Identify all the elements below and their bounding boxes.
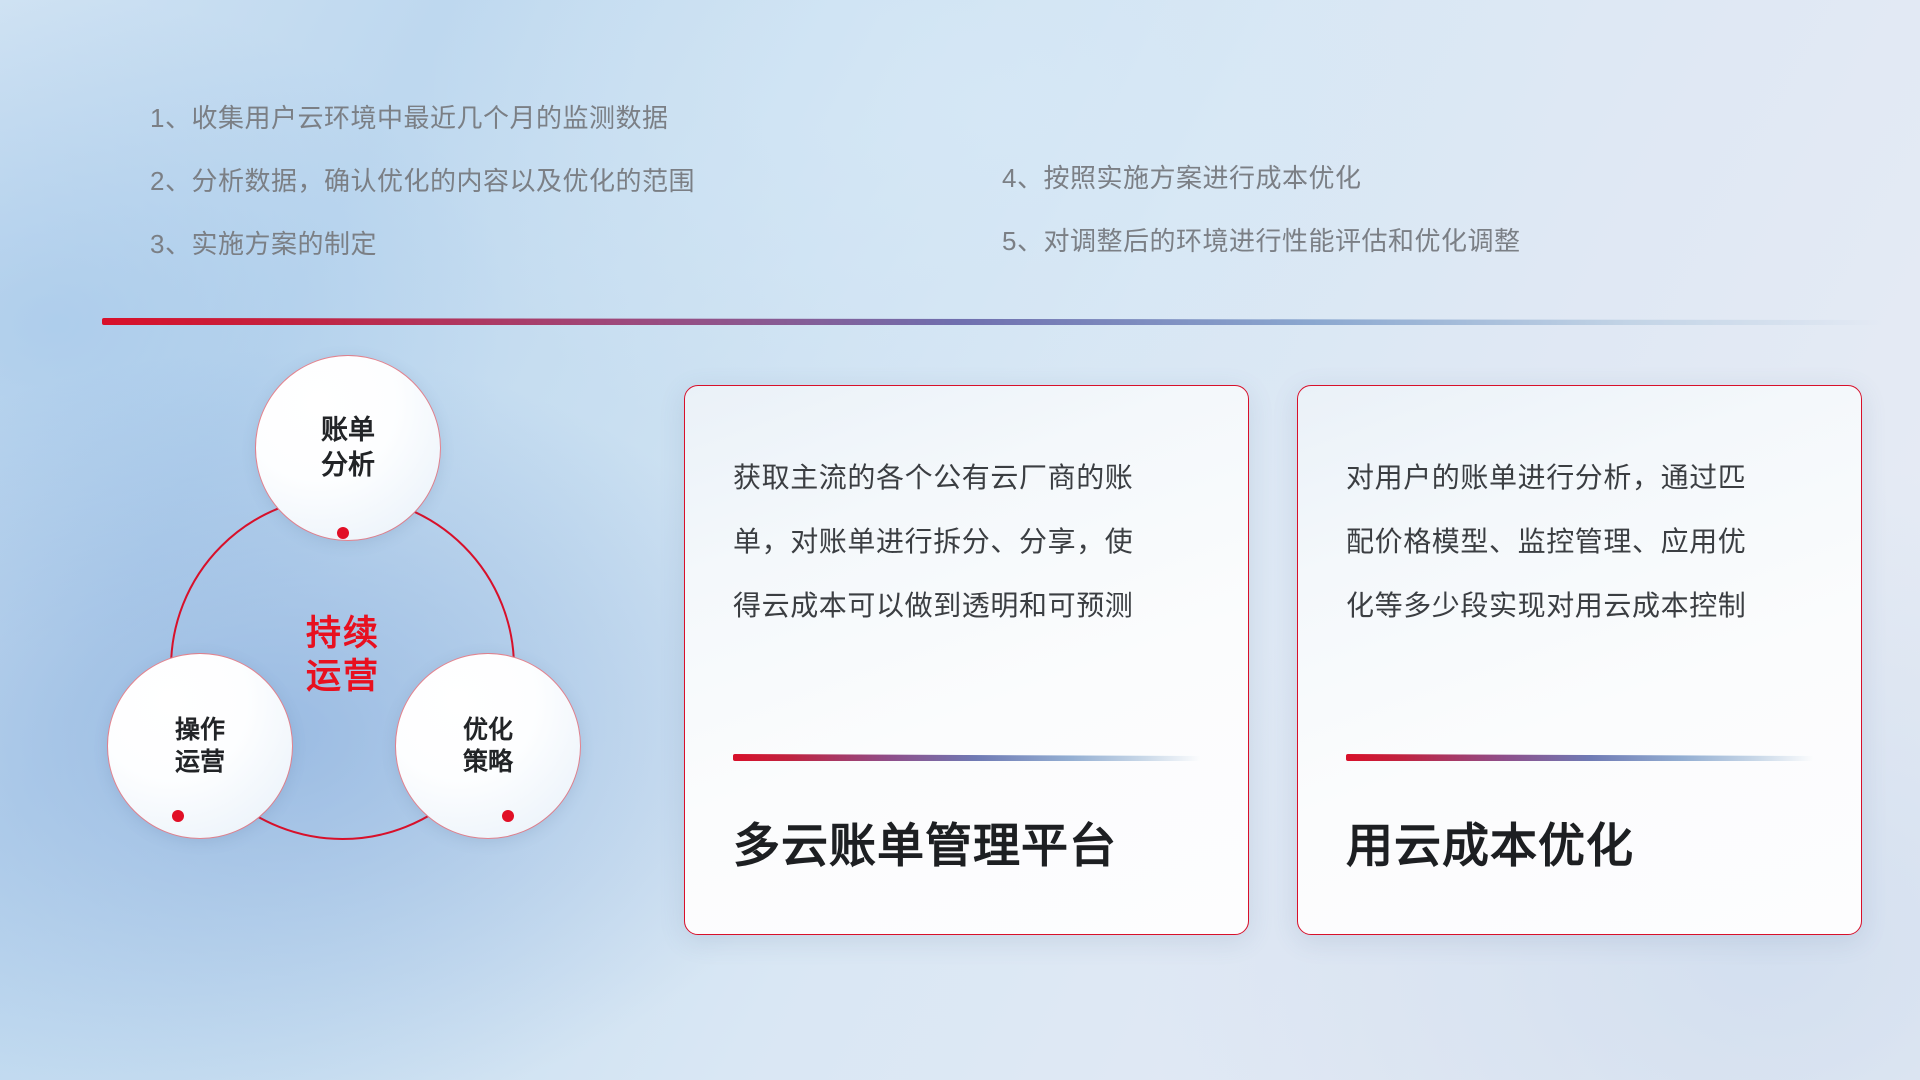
slide-canvas: 1、收集用户云环境中最近几个月的监测数据 2、分析数据，确认优化的内容以及优化的… [0, 0, 1920, 1080]
card-body-line: 单，对账单进行拆分、分享，使 [733, 510, 1200, 574]
process-list-left-item: 2、分析数据，确认优化的内容以及优化的范围 [150, 161, 695, 198]
process-list-left: 1、收集用户云环境中最近几个月的监测数据 2、分析数据，确认优化的内容以及优化的… [150, 98, 695, 287]
card-body-line: 获取主流的各个公有云厂商的账 [733, 446, 1200, 510]
card-body-line: 配价格模型、监控管理、应用优 [1346, 510, 1813, 574]
feature-card-cloud-cost-optimization[interactable]: 对用户的账单进行分析，通过匹 配价格模型、监控管理、应用优 化等多少段实现对用云… [1297, 385, 1862, 935]
center-label-line1: 持续 [245, 613, 441, 656]
card-divider [1346, 754, 1813, 761]
bubble-label-line2: 分析 [321, 450, 375, 480]
card-body: 获取主流的各个公有云厂商的账 单，对账单进行拆分、分享，使 得云成本可以做到透明… [685, 386, 1248, 637]
card-divider [733, 754, 1200, 761]
card-body-line: 对用户的账单进行分析，通过匹 [1346, 446, 1813, 510]
process-list-left-item: 1、收集用户云环境中最近几个月的监测数据 [150, 98, 695, 135]
diagram-center-label: 持续 运营 [245, 613, 441, 698]
card-title: 多云账单管理平台 [685, 761, 1248, 934]
bubble-label-line2: 策略 [463, 748, 513, 776]
diagram-node-top-icon [337, 527, 349, 539]
continuous-operation-diagram: 账单 分析 操作 运营 优化 策略 持续 运营 [95, 355, 655, 955]
feature-card-multicloud-billing[interactable]: 获取主流的各个公有云厂商的账 单，对账单进行拆分、分享，使 得云成本可以做到透明… [684, 385, 1249, 935]
diagram-node-right-icon [502, 810, 514, 822]
diagram-bubble-bill-analysis[interactable]: 账单 分析 [255, 355, 441, 541]
diagram-node-left-icon [172, 810, 184, 822]
card-body: 对用户的账单进行分析，通过匹 配价格模型、监控管理、应用优 化等多少段实现对用云… [1298, 386, 1861, 637]
process-list-right-item: 5、对调整后的环境进行性能评估和优化调整 [1002, 221, 1520, 258]
center-label-line2: 运营 [245, 656, 441, 699]
process-list-right-item: 4、按照实施方案进行成本优化 [1002, 158, 1520, 195]
card-body-line: 化等多少段实现对用云成本控制 [1346, 574, 1813, 638]
bubble-label-line2: 运营 [175, 748, 225, 776]
card-title: 用云成本优化 [1298, 761, 1861, 934]
bubble-label-line1: 优化 [463, 716, 513, 744]
section-divider [102, 318, 1882, 325]
process-list-left-item: 3、实施方案的制定 [150, 224, 695, 261]
bubble-label-line1: 账单 [321, 415, 375, 445]
bubble-label-line1: 操作 [175, 716, 225, 744]
card-body-line: 得云成本可以做到透明和可预测 [733, 574, 1200, 638]
process-list-right: 4、按照实施方案进行成本优化 5、对调整后的环境进行性能评估和优化调整 [1002, 158, 1520, 284]
